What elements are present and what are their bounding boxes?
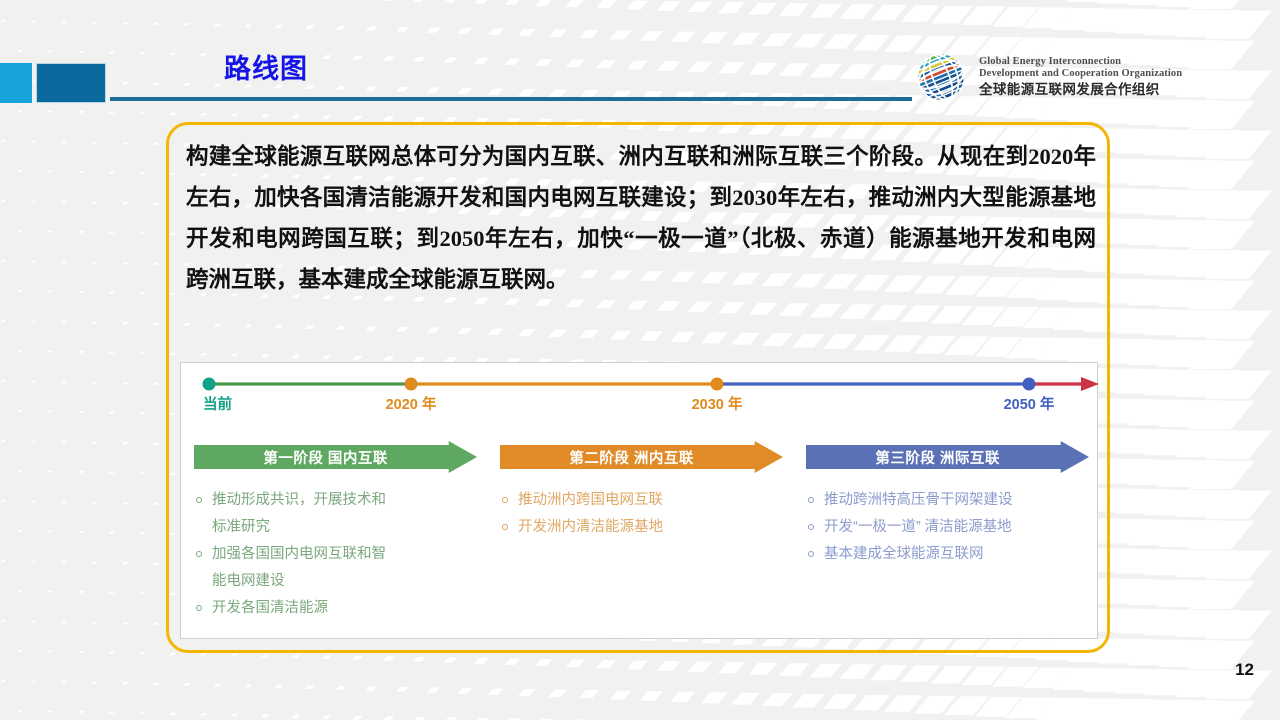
organization-logo: Global Energy Interconnection Developmen… xyxy=(912,48,1182,106)
phase-arrow-1: 第一阶段 国内互联 xyxy=(194,441,477,473)
list-item: 推动形成共识，开展技术和 标准研究 xyxy=(195,487,481,541)
list-item: 开发“一极一道” 清洁能源基地 xyxy=(807,514,1093,541)
list-item: 开发各国清洁能源 xyxy=(195,595,481,622)
timeline-axis xyxy=(181,363,1099,423)
list-item: 加强各国国内电网互联和智 能电网建设 xyxy=(195,541,481,595)
phase-bullets-3: 推动跨洲特高压骨干网架建设开发“一极一道” 清洁能源基地基本建成全球能源互联网 xyxy=(793,487,1099,568)
header-rule xyxy=(110,97,900,101)
phase-arrow-3: 第三阶段 洲际互联 xyxy=(806,441,1089,473)
list-item: 推动跨洲特高压骨干网架建设 xyxy=(807,487,1093,514)
logo-en-line2: Development and Cooperation Organization xyxy=(979,68,1182,80)
phase-column-2: 第二阶段 洲内互联 推动洲内跨国电网互联开发洲内清洁能源基地 xyxy=(487,441,793,622)
logo-en-line1: Global Energy Interconnection xyxy=(979,56,1182,68)
phase-columns: 第一阶段 国内互联 推动形成共识，开展技术和 标准研究加强各国国内电网互联和智 … xyxy=(181,441,1099,622)
logo-cn-name: 全球能源互联网发展合作组织 xyxy=(979,82,1182,98)
list-item: 推动洲内跨国电网互联 xyxy=(501,487,787,514)
timeline-label-2: 2020 年 xyxy=(386,393,437,414)
page-title: 路线图 xyxy=(224,56,308,83)
list-item: 开发洲内清洁能源基地 xyxy=(501,514,787,541)
logo-text-block: Global Energy Interconnection Developmen… xyxy=(979,56,1182,98)
list-item: 基本建成全球能源互联网 xyxy=(807,541,1093,568)
phase-bullets-1: 推动形成共识，开展技术和 标准研究加强各国国内电网互联和智 能电网建设开发各国清… xyxy=(181,487,487,622)
phase-bullets-2: 推动洲内跨国电网互联开发洲内清洁能源基地 xyxy=(487,487,793,541)
phase-arrow-label-1: 第一阶段 国内互联 xyxy=(194,441,457,473)
header-accent-square-light xyxy=(0,63,32,103)
phase-column-3: 第三阶段 洲际互联 推动跨洲特高压骨干网架建设开发“一极一道” 清洁能源基地基本… xyxy=(793,441,1099,622)
paragraph-lead: 构建全球能源互联网总体可分为国内互联、洲内互联和洲际互联三个阶段。 xyxy=(186,144,937,169)
header-rule-tail xyxy=(900,97,912,101)
roadmap-card: 当前2020 年2030 年2050 年 第一阶段 国内互联 推动形成共识，开展… xyxy=(180,362,1098,639)
phase-arrow-label-2: 第二阶段 洲内互联 xyxy=(500,441,763,473)
phase-arrow-2: 第二阶段 洲内互联 xyxy=(500,441,783,473)
phase-column-1: 第一阶段 国内互联 推动形成共识，开展技术和 标准研究加强各国国内电网互联和智 … xyxy=(181,441,487,622)
header-accent-square-dark xyxy=(36,63,106,103)
summary-paragraph: 构建全球能源互联网总体可分为国内互联、洲内互联和洲际互联三个阶段。从现在到202… xyxy=(186,136,1096,300)
timeline-label-4: 2050 年 xyxy=(1004,393,1055,414)
timeline-label-3: 2030 年 xyxy=(692,393,743,414)
timeline-label-1: 当前 xyxy=(203,393,232,414)
page-number: 12 xyxy=(1235,660,1254,680)
globe-icon xyxy=(912,48,970,106)
phase-arrow-label-3: 第三阶段 洲际互联 xyxy=(806,441,1069,473)
slide-header: 路线图 xyxy=(0,0,1280,118)
